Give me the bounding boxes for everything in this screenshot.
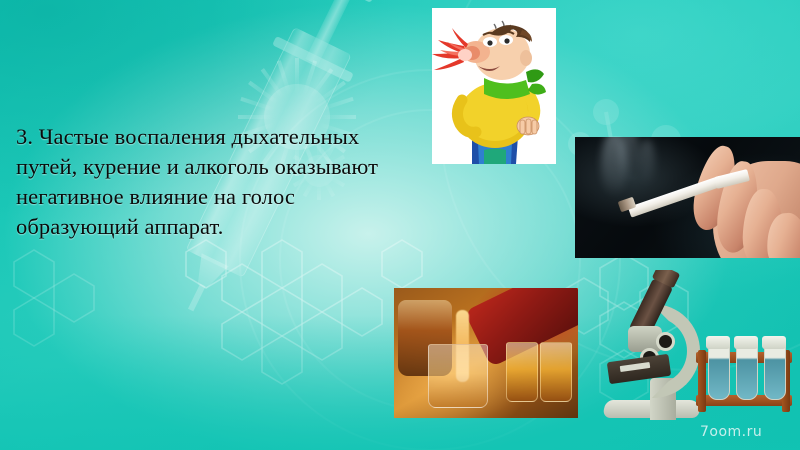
cigarette-photo (575, 137, 800, 258)
presentation-slide: 3. Частые воспаления дыхательных путей, … (0, 0, 800, 450)
shot-glass-shape (506, 342, 538, 402)
slide-caption-text: 3. Частые воспаления дыхательных путей, … (16, 122, 388, 242)
watermark-text: 7oom.ru (700, 424, 762, 440)
alcohol-photo (394, 288, 578, 418)
tumbler-glass-shape (428, 344, 488, 408)
shot-glass-shape (540, 342, 572, 402)
sneezing-man-cartoon (432, 8, 556, 164)
test-tube-rack (696, 338, 792, 412)
microscope-illustration (600, 270, 800, 440)
